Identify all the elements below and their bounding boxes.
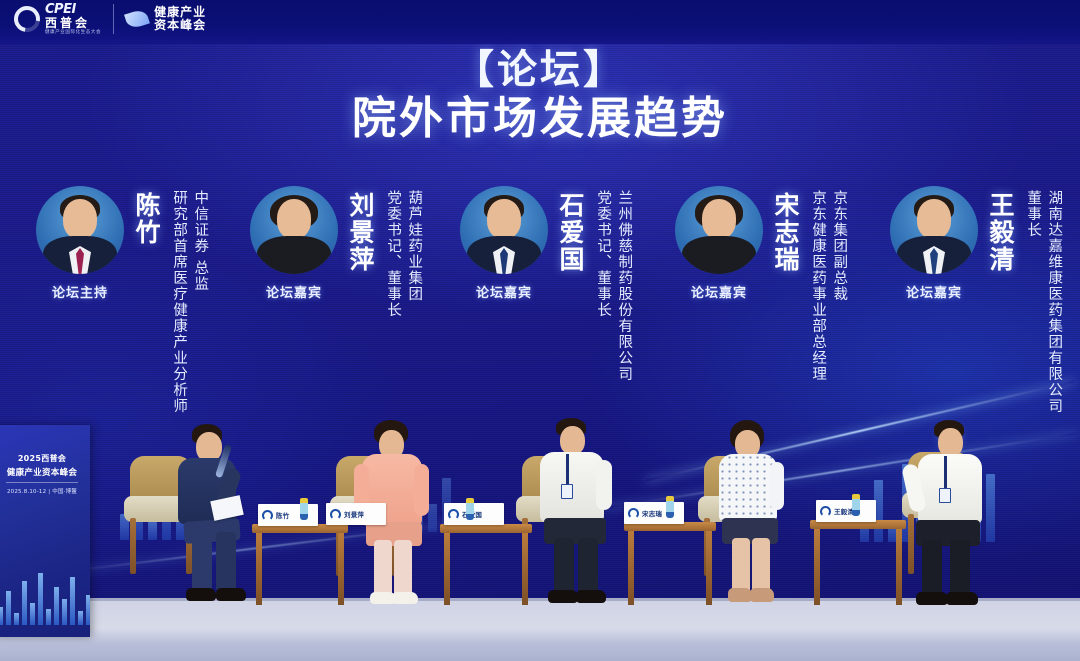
water-bottle-0 [300, 498, 308, 520]
summit-logo: 健康产业 资本峰会 [126, 6, 206, 33]
summit-logo-line2: 资本峰会 [154, 19, 206, 32]
side-table-1 [440, 524, 532, 606]
speaker-role-3: 论坛嘉宾 [691, 282, 747, 301]
speaker-title1-1: 葫芦娃药业集团 [405, 190, 423, 318]
panelist-2 [524, 418, 632, 622]
rollup-line2: 健康产业资本峰会 [0, 466, 84, 478]
speaker-portrait-0 [36, 186, 124, 274]
speaker-name-4: 王毅清 [982, 192, 1018, 273]
circle-ring-icon [9, 1, 45, 37]
plate-logo-icon-1 [330, 509, 341, 520]
rollup-banner: 2025西普会 健康产业资本峰会 2025.8.10-12 | 中国·博鳌 [0, 425, 90, 637]
logo-divider [113, 4, 114, 34]
panelist-moderator [158, 424, 268, 624]
plate-name-1: 刘景萍 [344, 509, 364, 519]
speaker-title2-1: 党委书记、董事长 [384, 190, 402, 318]
speaker-name-1: 刘景萍 [342, 192, 378, 273]
speaker-card-2: 论坛嘉宾 石爱国 兰州佛慈制药股份有限公司 党委书记、董事长 [460, 186, 633, 382]
panelist-4 [900, 420, 1010, 624]
plate-logo-icon-4 [820, 506, 831, 517]
speaker-title2-4: 董事长 [1024, 190, 1042, 414]
speaker-role-4: 论坛嘉宾 [906, 282, 962, 301]
speaker-role-0: 论坛主持 [52, 282, 108, 301]
rollup-bar-graphic [0, 573, 90, 625]
speaker-title2-3: 京东健康医药事业部总经理 [809, 190, 827, 382]
side-table-2 [624, 522, 716, 606]
speaker-card-0: 论坛主持 陈竹 中信证券 总监 研究部首席医疗健康产业分析师 [36, 186, 209, 414]
speaker-portrait-2 [460, 186, 548, 274]
forum-title-line2: 院外市场发展趋势 [0, 93, 1080, 145]
header-logo-group: CPEI 西普会 健康产业国际化生态大会 健康产业 资本峰会 [14, 3, 206, 36]
cpei-logo-cn: 西普会 [45, 17, 101, 29]
speaker-card-4: 论坛嘉宾 王毅清 湖南达嘉维康医药集团有限公司 董事长 [890, 186, 1063, 414]
speaker-title1-4: 湖南达嘉维康医药集团有限公司 [1045, 190, 1063, 414]
forum-title-block: 【论坛】 院外市场发展趋势 [0, 48, 1080, 145]
cpei-logo: CPEI 西普会 健康产业国际化生态大会 [14, 3, 101, 36]
panelist-3 [704, 420, 804, 622]
speaker-card-3: 论坛嘉宾 宋志瑞 京东集团副总裁 京东健康医药事业部总经理 [675, 186, 848, 382]
cpei-logo-en: CPEI [45, 3, 101, 16]
speaker-title2-0: 研究部首席医疗健康产业分析师 [170, 190, 188, 414]
speaker-title1-3: 京东集团副总裁 [830, 190, 848, 382]
speaker-portrait-3 [675, 186, 763, 274]
speaker-name-3: 宋志瑞 [767, 192, 803, 273]
water-bottle-3 [852, 494, 860, 516]
speaker-title1-2: 兰州佛慈制药股份有限公司 [615, 190, 633, 382]
lanyard-badge-2 [566, 454, 569, 488]
plate-logo-icon-2 [448, 509, 459, 520]
speaker-portrait-4 [890, 186, 978, 274]
conference-stage-photo: CPEI 西普会 健康产业国际化生态大会 健康产业 资本峰会 【论坛】 院外市场… [0, 0, 1080, 661]
speaker-role-2: 论坛嘉宾 [476, 282, 532, 301]
name-plate-2: 石爱国 [444, 503, 504, 525]
name-plate-3: 宋志瑞 [624, 502, 684, 524]
cpei-logo-subtitle: 健康产业国际化生态大会 [45, 31, 101, 36]
speaker-title2-2: 党委书记、董事长 [594, 190, 612, 382]
name-plate-0: 陈竹 [258, 504, 318, 526]
water-bottle-1 [466, 498, 474, 520]
lanyard-badge-4 [944, 456, 947, 492]
name-plate-1: 刘景萍 [326, 503, 386, 525]
rollup-date-location: 2025.8.10-12 | 中国·博鳌 [0, 487, 84, 495]
speaker-name-2: 石爱国 [552, 192, 588, 273]
speaker-card-1: 论坛嘉宾 刘景萍 葫芦娃药业集团 党委书记、董事长 [250, 186, 423, 318]
plate-name-3: 宋志瑞 [642, 508, 662, 518]
leaf-icon [124, 8, 150, 30]
speaker-name-0: 陈竹 [128, 192, 164, 246]
side-table-3 [810, 520, 906, 606]
forum-title-line1: 【论坛】 [0, 48, 1080, 93]
rollup-line1: 2025西普会 [0, 453, 84, 464]
plate-name-0: 陈竹 [276, 510, 289, 520]
plate-logo-icon-3 [628, 508, 639, 519]
speaker-role-1: 论坛嘉宾 [266, 282, 322, 301]
name-plate-4: 王毅清 [816, 500, 876, 522]
speaker-portrait-1 [250, 186, 338, 274]
water-bottle-2 [666, 496, 674, 518]
plate-logo-icon-0 [262, 510, 273, 521]
speaker-title1-0: 中信证券 总监 [191, 190, 209, 414]
